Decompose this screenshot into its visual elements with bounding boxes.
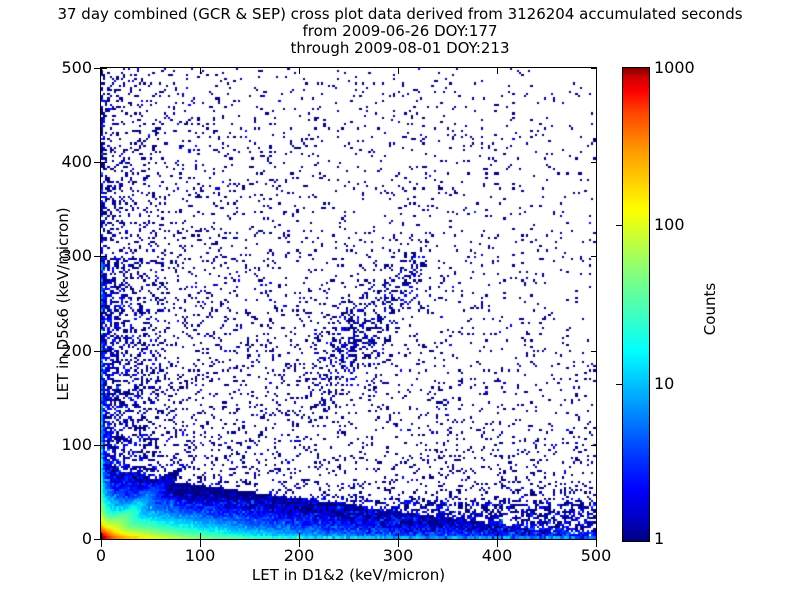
x-axis-tick-inner-300	[398, 533, 399, 539]
colorbar-tick-100	[616, 225, 622, 226]
x-axis-tick-label-300: 300	[358, 548, 438, 564]
x-axis-tick-inner-200	[299, 533, 300, 539]
plot-area	[100, 67, 597, 540]
x-axis-tick-top-200	[299, 68, 300, 74]
y-axis-tick-500	[94, 68, 101, 69]
y-axis-tick-200	[94, 351, 101, 352]
x-axis-tick-top-500	[596, 68, 597, 74]
y-axis-title: LET in D5&6 (keV/micron)	[54, 179, 72, 429]
x-axis-tick-label-400: 400	[457, 548, 537, 564]
y-axis-tick-300	[94, 256, 101, 257]
colorbar-tick-10	[616, 384, 622, 385]
y-axis-tick-label-100: 100	[61, 437, 92, 453]
colorbar-tick-label-10: 10	[654, 376, 674, 392]
y-axis-tick-inner-300	[101, 256, 107, 257]
chart-title: 37 day combined (GCR & SEP) cross plot d…	[0, 6, 800, 57]
y-axis-tick-inner-100	[101, 445, 107, 446]
x-axis-tick-top-400	[497, 68, 498, 74]
colorbar-title: Counts	[701, 229, 719, 389]
x-axis-tick-inner-0	[101, 533, 102, 539]
y-axis-tick-right-400	[591, 162, 597, 163]
x-axis-tick-inner-500	[596, 533, 597, 539]
colorbar-tick-label-1000: 1000	[654, 60, 695, 76]
y-axis-tick-label-0: 0	[82, 531, 92, 547]
chart-title-line-2: from 2009-06-26 DOY:177	[0, 23, 800, 40]
y-axis-tick-label-500: 500	[61, 60, 92, 76]
colorbar-tick-label-100: 100	[654, 217, 685, 233]
x-axis-tick-label-200: 200	[259, 548, 339, 564]
y-axis-tick-right-200	[591, 351, 597, 352]
y-axis-tick-inner-400	[101, 162, 107, 163]
x-axis-tick-inner-400	[497, 533, 498, 539]
x-axis-tick-inner-100	[200, 533, 201, 539]
x-axis-title: LET in D1&2 (keV/micron)	[100, 566, 597, 584]
x-axis-tick-top-0	[101, 68, 102, 74]
colorbar-tick-label-1: 1	[654, 531, 664, 547]
x-axis-tick-label-0: 0	[61, 548, 141, 564]
y-axis-tick-inner-200	[101, 351, 107, 352]
chart-title-line-3: through 2009-08-01 DOY:213	[0, 40, 800, 57]
y-axis-tick-100	[94, 445, 101, 446]
x-axis-tick-top-300	[398, 68, 399, 74]
x-axis-tick-label-100: 100	[160, 548, 240, 564]
y-axis-tick-0	[94, 539, 101, 540]
colorbar-gradient	[622, 67, 650, 542]
x-axis-tick-top-100	[200, 68, 201, 74]
y-axis-tick-right-300	[591, 256, 597, 257]
scatter-heatmap-canvas	[101, 68, 596, 539]
x-axis-tick-label-500: 500	[556, 548, 636, 564]
chart-title-line-1: 37 day combined (GCR & SEP) cross plot d…	[0, 6, 800, 23]
y-axis-tick-label-400: 400	[61, 154, 92, 170]
y-axis-tick-400	[94, 162, 101, 163]
y-axis-tick-right-100	[591, 445, 597, 446]
